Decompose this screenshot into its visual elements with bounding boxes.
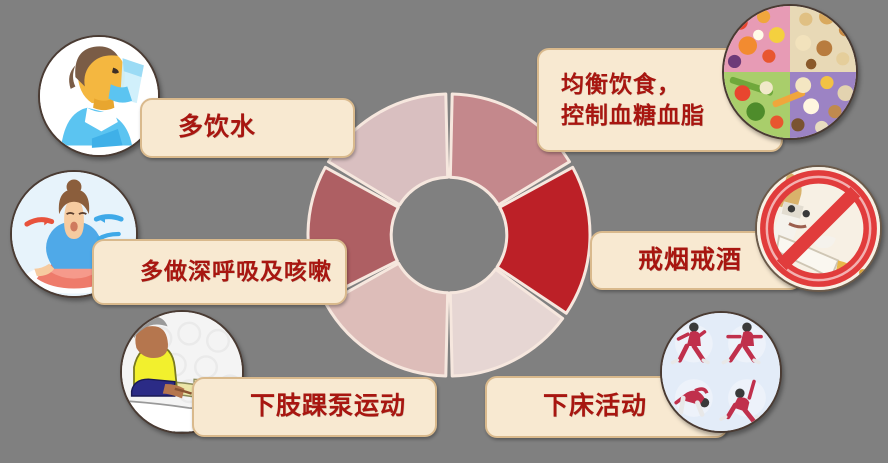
callout-deep-breathing[interactable]: 多做深呼吸及咳嗽	[92, 239, 347, 305]
icon-bubble-quit-smoking[interactable]	[755, 165, 882, 292]
callout-label-quit-smoking: 戒烟戒酒	[638, 244, 742, 278]
balanced-food-plate-icon	[724, 6, 856, 138]
callout-drink-water[interactable]: 多饮水	[140, 98, 355, 158]
callout-label-ankle-pump: 下肢踝泵运动	[250, 390, 406, 424]
no-smoking-no-drinking-icon	[757, 167, 880, 290]
callout-label-out-of-bed: 下床活动	[543, 390, 647, 424]
callout-label-deep-breathing: 多做深呼吸及咳嗽	[140, 256, 332, 287]
icon-bubble-balanced-diet[interactable]	[722, 4, 858, 140]
yoga-stretching-poses-icon	[662, 313, 780, 431]
callout-label-balanced-diet: 均衡饮食， 控制血糖血脂	[561, 69, 705, 131]
icon-bubble-out-of-bed[interactable]	[660, 311, 782, 433]
infographic-canvas: 多饮水 均衡饮食， 控制血糖血脂	[0, 0, 888, 463]
callout-ankle-pump[interactable]: 下肢踝泵运动	[192, 377, 437, 437]
callout-label-drink-water: 多饮水	[178, 111, 256, 145]
